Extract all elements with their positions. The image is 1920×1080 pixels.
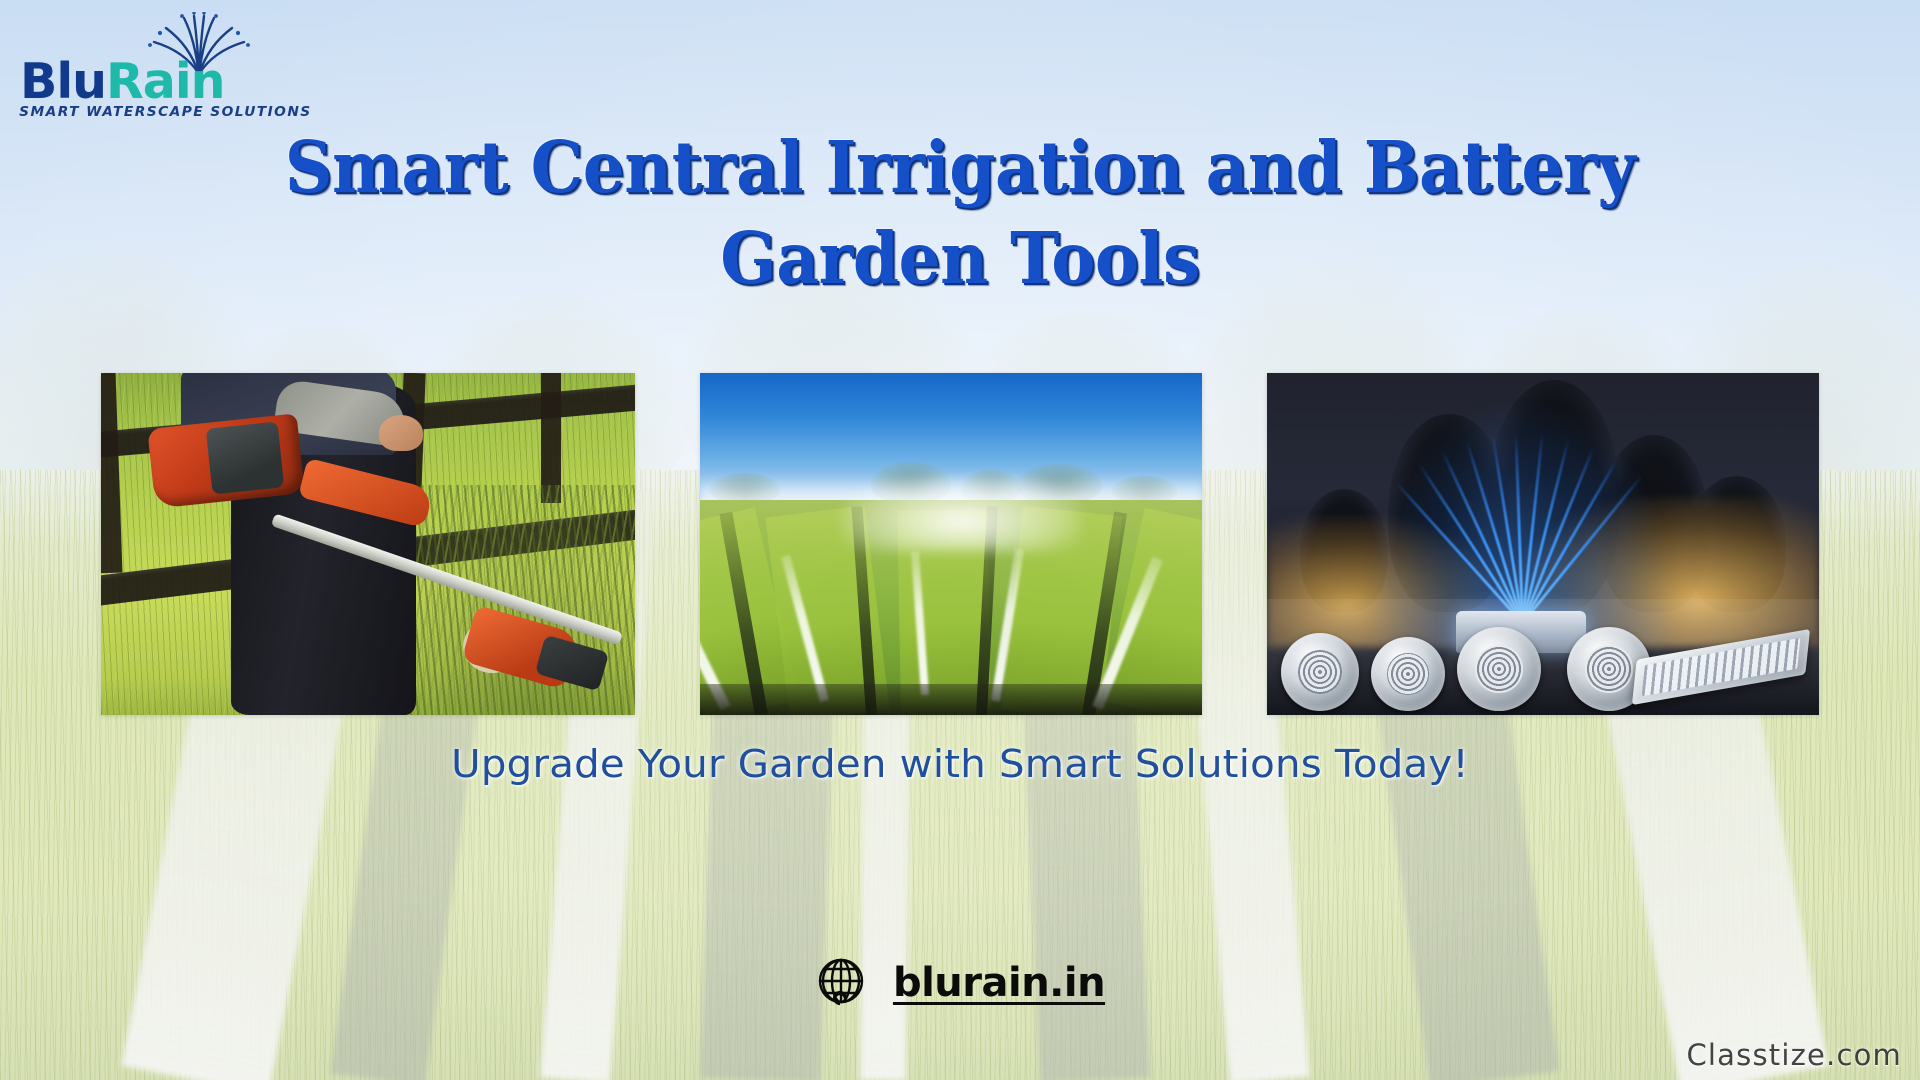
watermark: Classtize.com (1686, 1038, 1902, 1072)
logo-tagline: SMART WATERSCAPE SOLUTIONS (19, 104, 311, 120)
logo-wordmark: BluRain (20, 57, 225, 106)
logo-word-blu: Blu (20, 53, 106, 110)
website-url-text[interactable]: blurain.in (893, 960, 1105, 1006)
website-link[interactable]: blurain.in (0, 955, 1920, 1011)
string-trimmer-photo (101, 373, 635, 715)
sprinkler-irrigation-photo (700, 373, 1202, 715)
fountain-water-jets (1386, 433, 1656, 623)
brand-logo[interactable]: BluRain SMART WATERSCAPE SOLUTIONS (14, 12, 266, 124)
subtitle: Upgrade Your Garden with Smart Solutions… (0, 742, 1920, 786)
fountain-led-lights-photo (1267, 373, 1819, 715)
image-gallery (0, 373, 1920, 715)
logo-word-rain: Rain (106, 53, 224, 110)
globe-icon (815, 955, 871, 1011)
page-title: Smart Central Irrigation and Battery Gar… (67, 122, 1853, 304)
